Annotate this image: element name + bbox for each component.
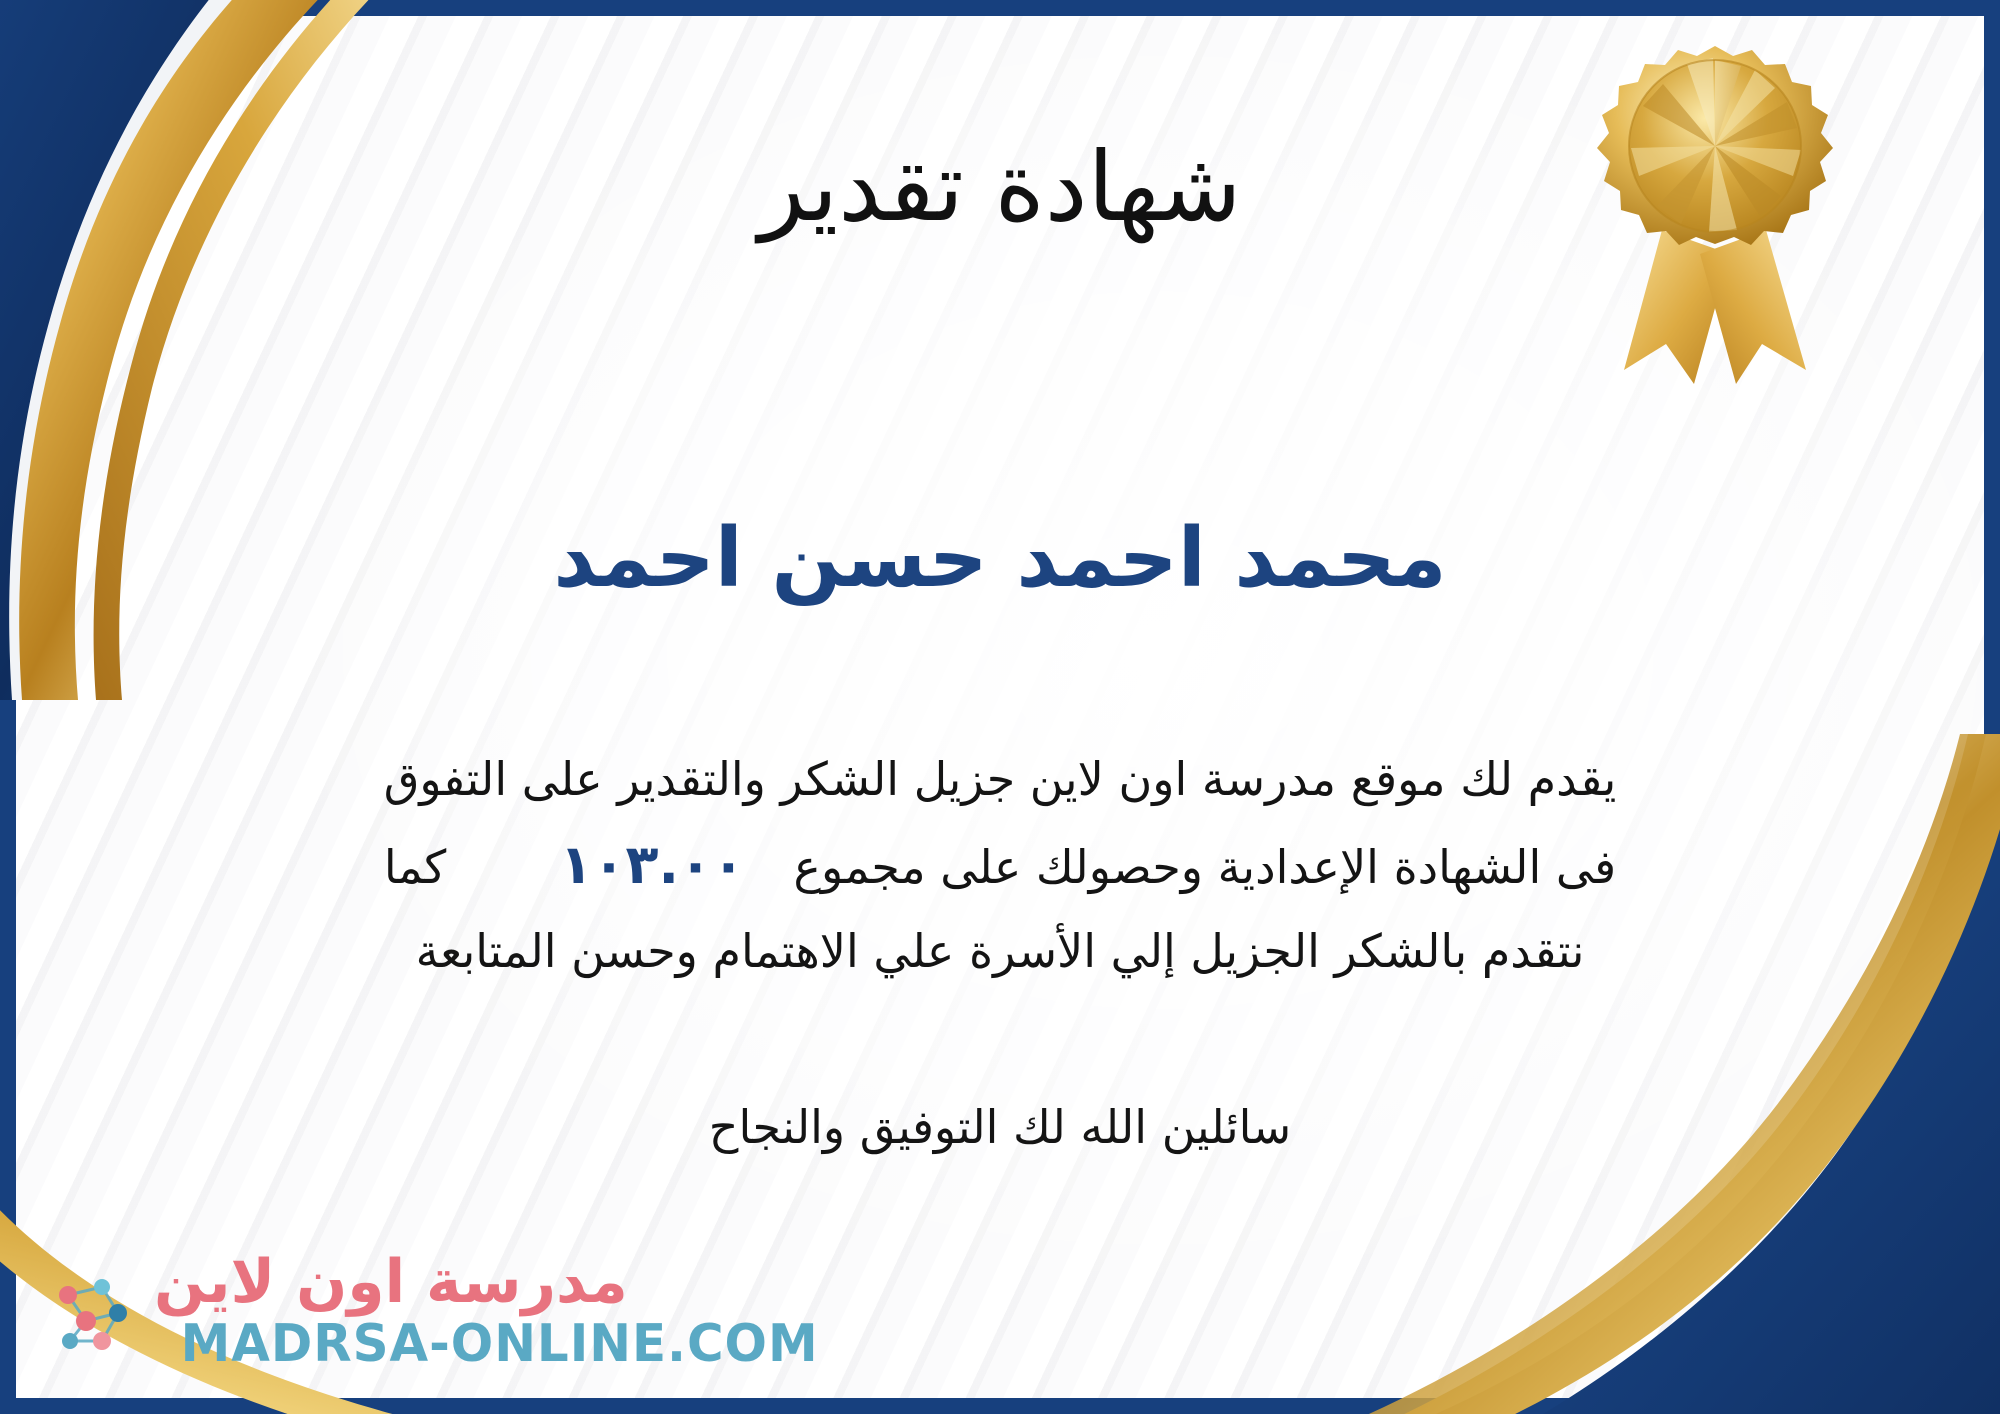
body-line-3: نتقدم بالشكر الجزيل إلي الأسرة علي الاهت… — [60, 912, 1940, 991]
body-line-2-text-after-score: كما — [384, 840, 447, 894]
brand-logo-text: مدرسة اون لاين MADRSA-ONLINE.COM — [154, 1251, 819, 1374]
body-line-2: فى الشهادة الإعدادية وحصولك على مجموع ١٠… — [60, 819, 1940, 912]
brand-arabic-name: مدرسة اون لاين — [154, 1251, 628, 1314]
total-score-value: ١٠٣.٠٠ — [526, 833, 779, 896]
network-nodes-icon — [40, 1265, 136, 1361]
closing-wish-text: سائلين الله لك التوفيق والنجاح — [0, 1100, 2000, 1154]
body-line-2-text-before-score: فى الشهادة الإعدادية وحصولك على مجموع — [794, 840, 1617, 894]
certificate-title: شهادة تقدير — [0, 135, 2000, 241]
brand-website: MADRSA-ONLINE.COM — [181, 1314, 819, 1374]
certificate-body: يقدم لك موقع مدرسة اون لاين جزيل الشكر و… — [60, 740, 1940, 991]
brand-logo[interactable]: مدرسة اون لاين MADRSA-ONLINE.COM — [40, 1251, 819, 1374]
body-line-1: يقدم لك موقع مدرسة اون لاين جزيل الشكر و… — [60, 740, 1940, 819]
certificate-canvas: شهادة تقدير محمد احمد حسن احمد يقدم لك م… — [0, 0, 2000, 1414]
recipient-name: محمد احمد حسن احمد — [0, 512, 2000, 606]
